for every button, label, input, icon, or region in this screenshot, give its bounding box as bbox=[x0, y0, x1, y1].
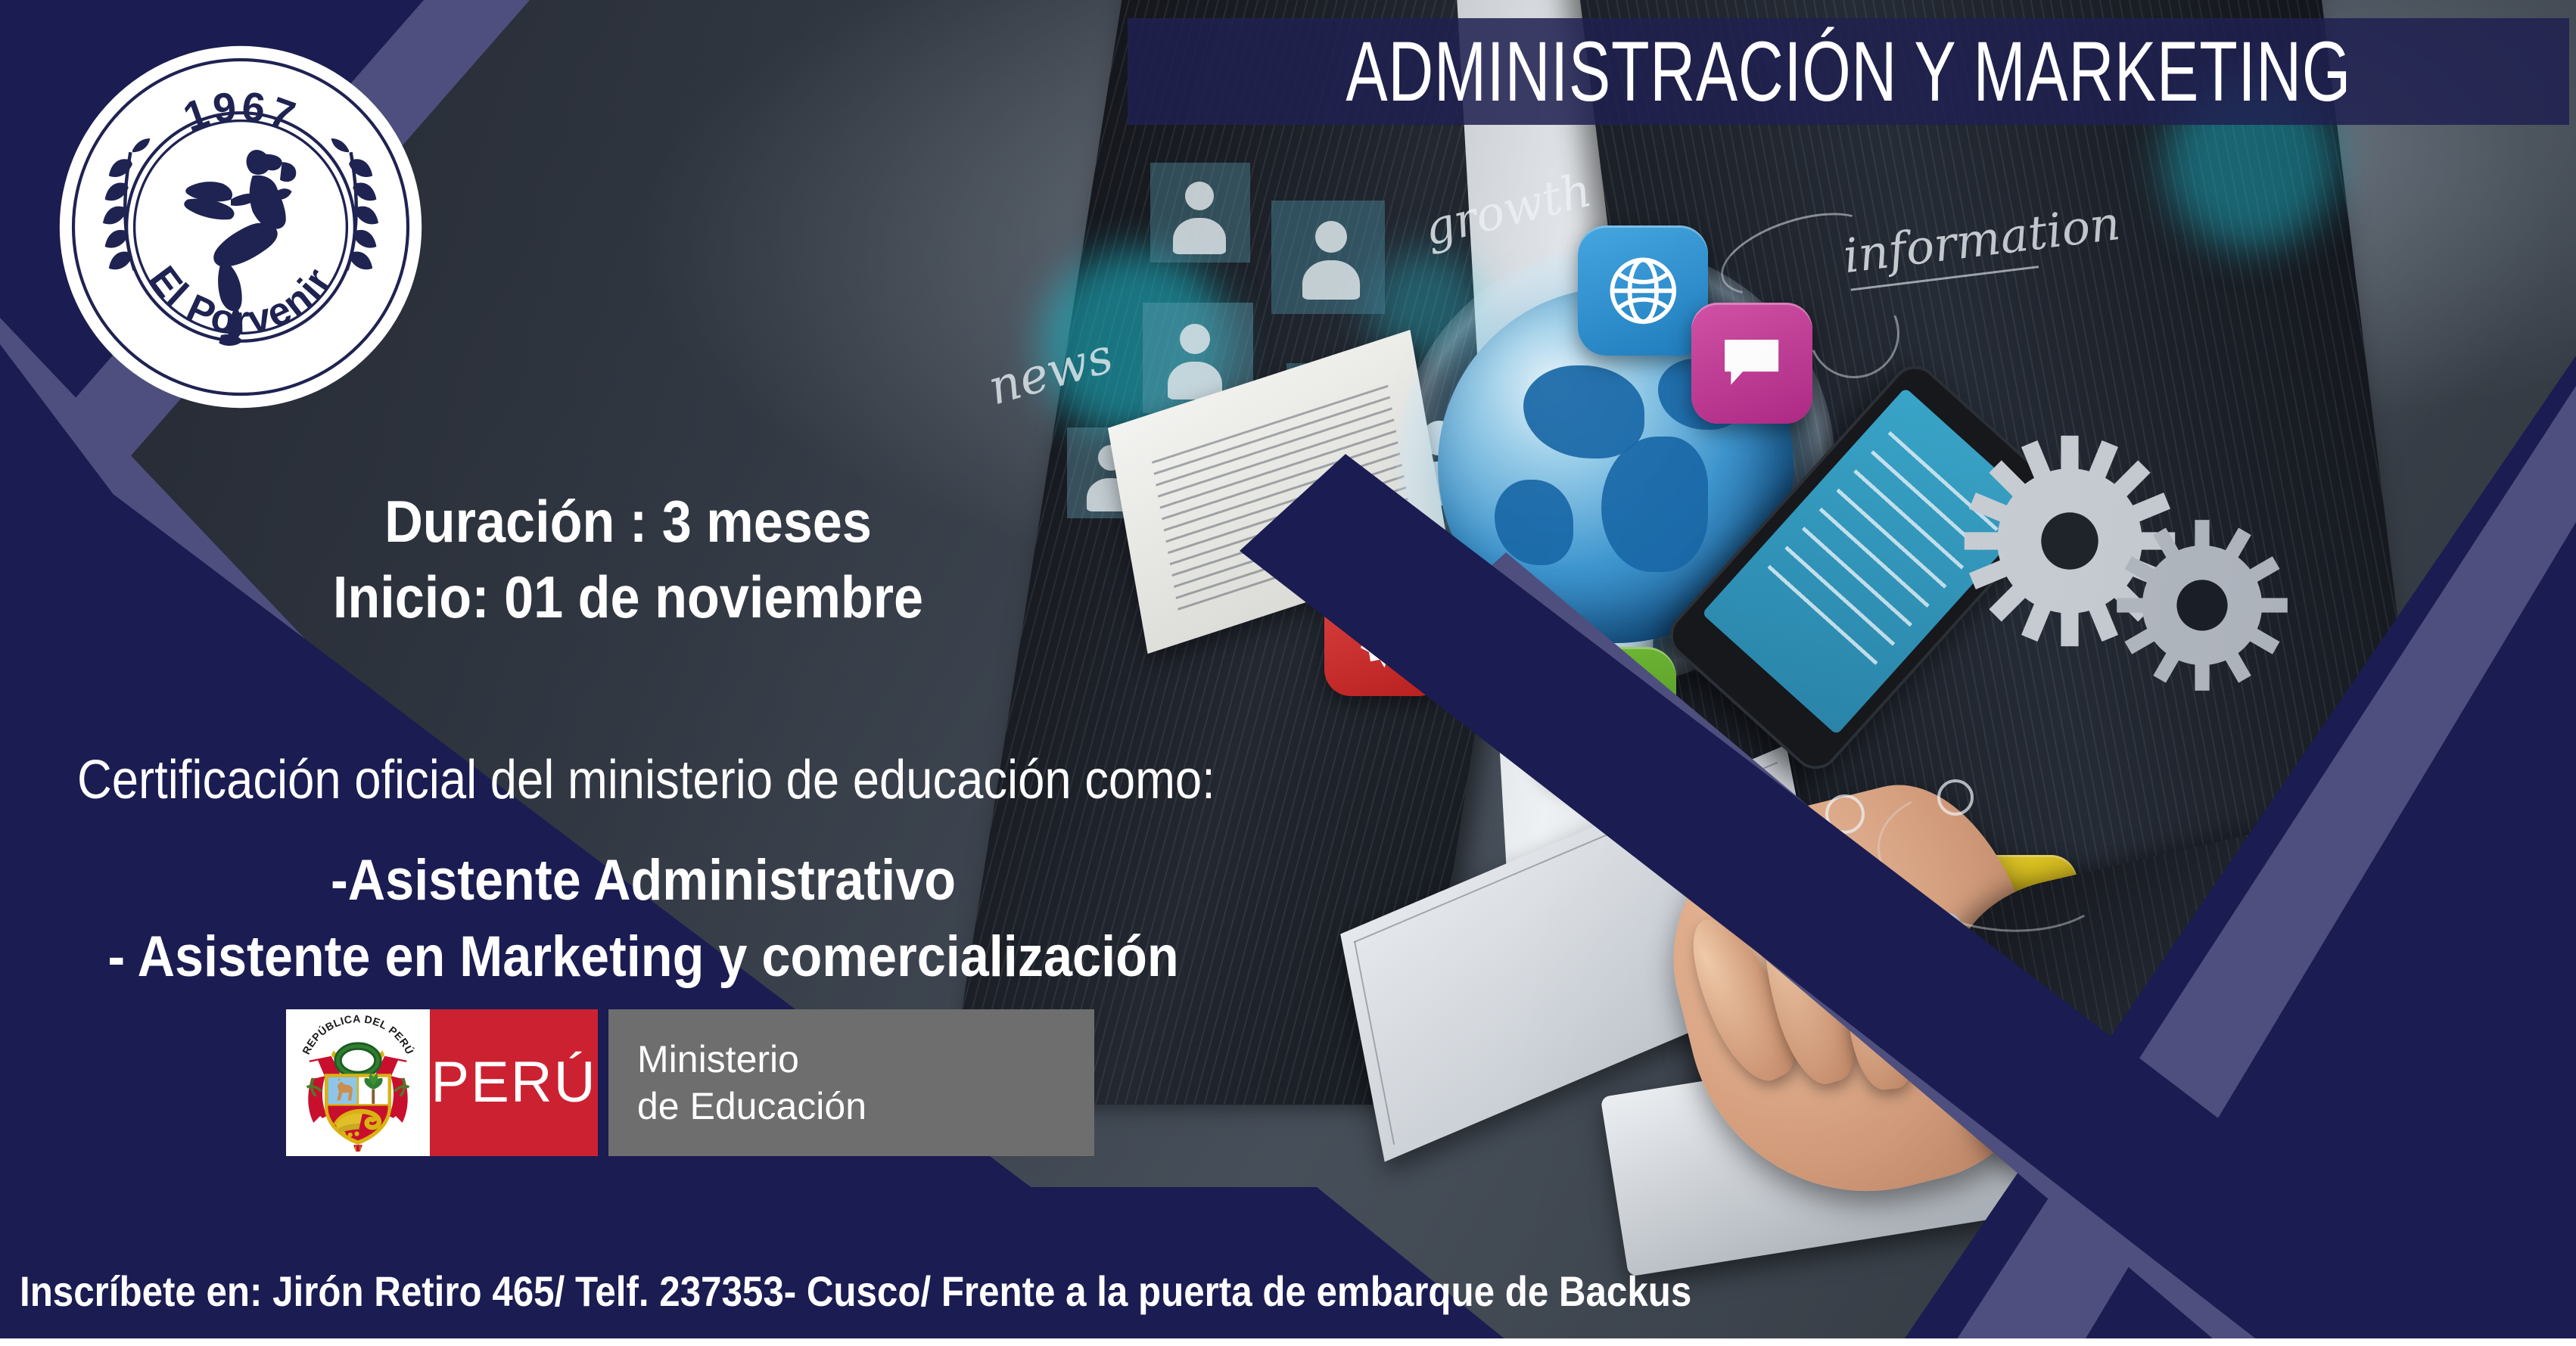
certification-item: -Asistente Administrativo bbox=[64, 842, 1222, 919]
logo-divider bbox=[598, 1009, 608, 1156]
ministry-line-1: Ministerio bbox=[637, 1036, 1094, 1083]
coat-of-arms-panel: REPÚBLICA DEL PERÚ bbox=[286, 1009, 430, 1156]
certification-heading: Certificación oficial del ministerio de … bbox=[77, 745, 1209, 816]
ministry-label-panel: Ministerio de Educación bbox=[608, 1009, 1094, 1156]
ministry-of-education-logo: REPÚBLICA DEL PERÚ bbox=[286, 1009, 1094, 1156]
bottom-white-strip bbox=[0, 1338, 2576, 1346]
peru-coat-of-arms-icon: REPÚBLICA DEL PERÚ bbox=[291, 1014, 425, 1152]
peru-label-panel: PERÚ bbox=[430, 1009, 598, 1156]
peru-label: PERÚ bbox=[431, 1054, 596, 1111]
course-details-block: Duración : 3 meses Inicio: 01 de noviemb… bbox=[0, 484, 1256, 636]
seal-svg: 1967 El Porvenir bbox=[44, 30, 437, 424]
enrollment-footer-text: Inscríbete en: Jirón Retiro 465/ Telf. 2… bbox=[20, 1267, 1691, 1316]
title-banner: ADMINISTRACIÓN Y MARKETING bbox=[1128, 18, 2569, 125]
poster-canvas: 12 3 6 9 news growth information bbox=[0, 0, 2576, 1346]
certification-item: - Asistente en Marketing y comercializac… bbox=[64, 919, 1222, 996]
school-seal-logo: 1967 El Porvenir bbox=[44, 30, 437, 424]
course-duration: Duración : 3 meses bbox=[63, 484, 1193, 560]
page-title: ADMINISTRACIÓN Y MARKETING bbox=[1346, 30, 2351, 114]
course-start-date: Inicio: 01 de noviembre bbox=[63, 560, 1193, 636]
certification-block: Certificación oficial del ministerio de … bbox=[0, 745, 1286, 996]
laurel-wreath-icon bbox=[338, 1046, 378, 1075]
ministry-line-2: de Educación bbox=[637, 1083, 1094, 1130]
